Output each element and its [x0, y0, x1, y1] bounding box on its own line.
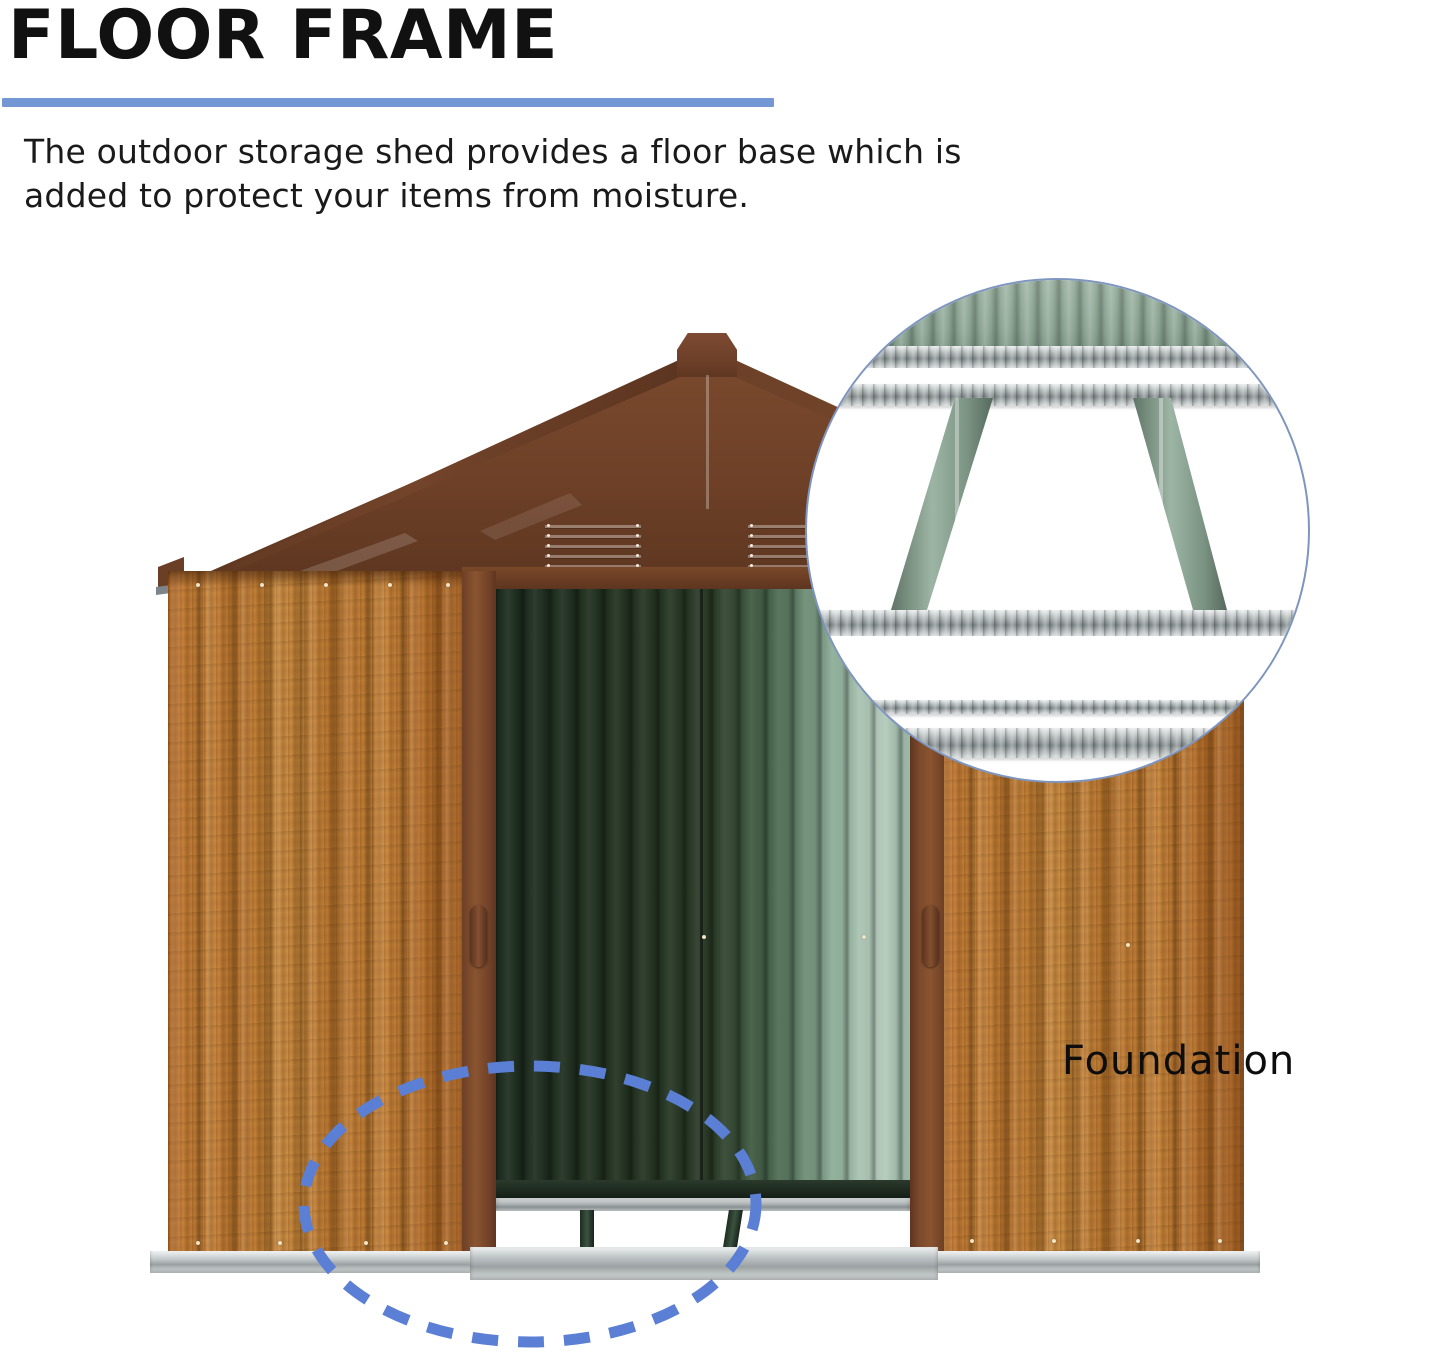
- shed-wall-left: [168, 571, 468, 1259]
- title-underline-rule: [2, 98, 774, 107]
- wall-screw: [1218, 1239, 1222, 1243]
- subtitle-line-2: added to protect your items from moistur…: [24, 174, 1184, 218]
- door-handle-right[interactable]: [922, 905, 939, 967]
- wall-screw: [324, 583, 328, 587]
- subtitle-line-1: The outdoor storage shed provides a floo…: [24, 130, 1184, 174]
- roof-ridge-cap: [677, 333, 737, 377]
- wall-left-top-shadow: [168, 571, 468, 587]
- subtitle-description: The outdoor storage shed provides a floo…: [24, 130, 1184, 218]
- header: FLOOR FRAME The outdoor storage shed pro…: [0, 0, 1445, 240]
- inset-green-panel-top: [807, 280, 1310, 350]
- wall-screw: [1126, 943, 1130, 947]
- wall-screw: [1052, 1239, 1056, 1243]
- inset-rail-base: [807, 728, 1310, 758]
- wall-screw: [196, 583, 200, 587]
- floor-frame-rail-upper: [496, 1198, 910, 1211]
- door-handle-left[interactable]: [470, 905, 487, 967]
- inset-support-right-highlight: [1159, 398, 1163, 610]
- floor-frame-shadow-bar: [496, 1180, 910, 1198]
- door-center-seam: [700, 589, 703, 1249]
- wall-screw: [260, 583, 264, 587]
- inset-rail-bottom: [807, 610, 1310, 636]
- wall-screw: [1136, 1239, 1140, 1243]
- foundation-detail-inset: [805, 278, 1310, 783]
- wall-screw: [446, 583, 450, 587]
- wall-screw: [970, 1239, 974, 1243]
- wall-screw: [444, 1241, 448, 1245]
- wall-screw: [278, 1241, 282, 1245]
- inset-gap-2: [807, 636, 1310, 702]
- wood-grain-texture-left: [168, 571, 468, 1259]
- inset-support-right: [1133, 398, 1227, 610]
- wall-screw: [388, 583, 392, 587]
- inset-support-left: [891, 398, 993, 610]
- inset-support-left-highlight: [955, 398, 959, 610]
- wall-screw: [364, 1241, 368, 1245]
- interior-screw: [862, 935, 866, 939]
- interior-screw: [702, 935, 706, 939]
- door-threshold-sill: [470, 1247, 938, 1280]
- inset-rail-lowest: [807, 700, 1310, 714]
- wall-screw: [196, 1241, 200, 1245]
- page-title: FLOOR FRAME: [8, 2, 558, 70]
- inset-angled-supports: [807, 398, 1310, 613]
- roof-ridge-seam: [706, 375, 709, 509]
- inset-rail-top: [807, 346, 1310, 368]
- inset-caption-foundation: Foundation: [1062, 1038, 1295, 1084]
- product-photo-stage: Foundation: [0, 240, 1445, 1366]
